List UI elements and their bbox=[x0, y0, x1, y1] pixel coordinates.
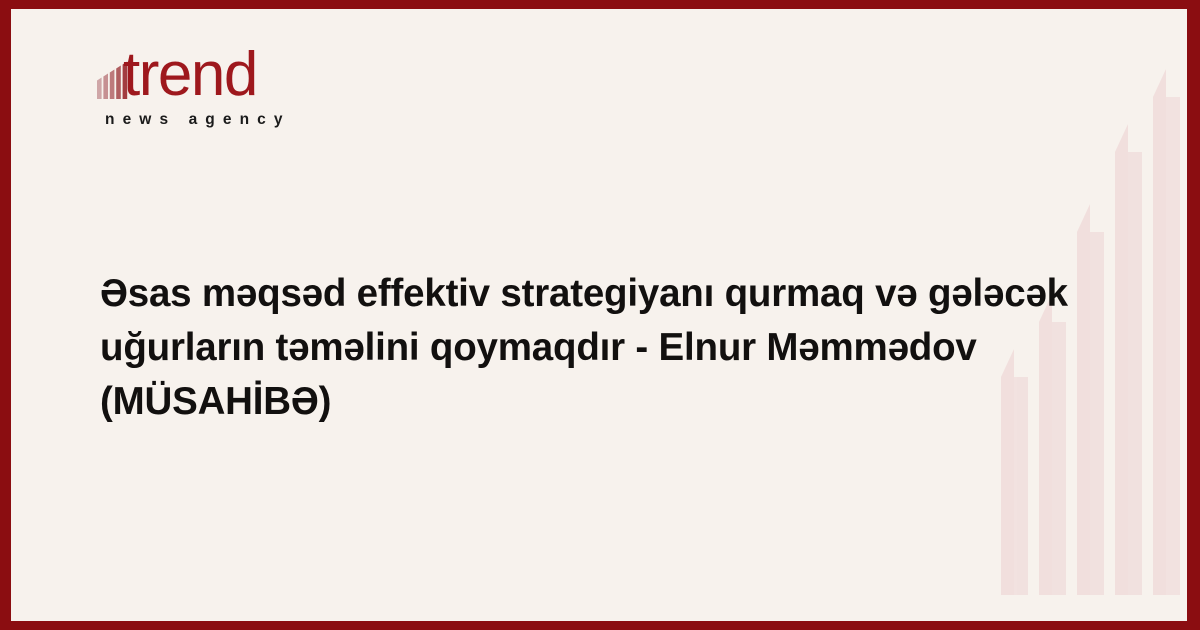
headline: Əsas məqsəd effektiv strategiyanı qurmaq… bbox=[100, 267, 1080, 429]
card-inner-panel: trend news agency Əsas məqsəd effektiv s… bbox=[11, 9, 1187, 621]
headline-line-2: uğurların təməlini qoymaqdır - Elnur Məm… bbox=[100, 321, 1080, 375]
logo-tagline: news agency bbox=[105, 112, 291, 128]
headline-line-1: Əsas məqsəd effektiv strategiyanı qurmaq… bbox=[100, 267, 1080, 321]
deco-bar-3-body bbox=[1077, 232, 1104, 595]
trend-news-agency-logo[interactable]: trend news agency bbox=[97, 43, 357, 137]
deco-bar-5 bbox=[1153, 69, 1166, 595]
logo-wordmark: trend bbox=[123, 44, 257, 106]
logo-bar-2 bbox=[103, 74, 108, 100]
social-share-card: trend news agency Əsas məqsəd effektiv s… bbox=[0, 0, 1200, 630]
headline-line-3: (MÜSAHİBƏ) bbox=[100, 375, 1080, 429]
deco-bar-4 bbox=[1115, 124, 1128, 595]
logo-bar-4 bbox=[116, 66, 121, 100]
deco-bar-5-body bbox=[1153, 97, 1180, 595]
deco-bar-4-body bbox=[1115, 152, 1142, 595]
logo-bar-1 bbox=[97, 78, 102, 100]
logo-bar-3 bbox=[110, 70, 115, 100]
